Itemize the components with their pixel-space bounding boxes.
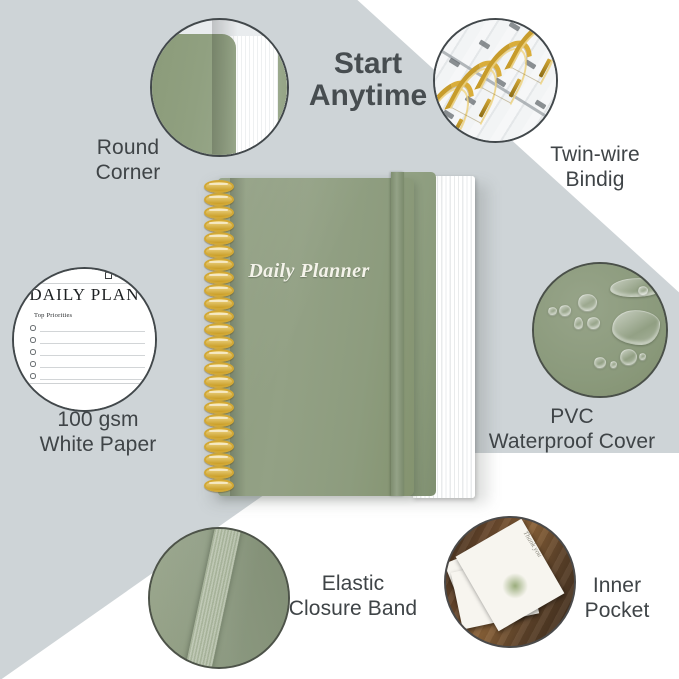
twin-wire-coil-icon xyxy=(433,18,558,143)
spiral-ring xyxy=(204,193,234,206)
water-drop xyxy=(620,349,637,365)
plan-footer-rule xyxy=(28,383,149,396)
plan-subtitle: Top Priorities xyxy=(34,312,72,319)
bullet-circle-icon xyxy=(30,337,36,343)
checkbox-icon xyxy=(105,272,112,279)
spiral-ring xyxy=(204,336,234,349)
spiral-ring xyxy=(204,232,234,245)
water-drop xyxy=(548,307,557,315)
punch-slot xyxy=(479,39,491,49)
spiral-ring xyxy=(204,310,234,323)
plan-option-delay: Delay xyxy=(132,272,155,279)
spiral-ring xyxy=(204,453,234,466)
plan-option-ok-label: Ok xyxy=(114,273,121,279)
feature-label-inner-pocket: Inner Pocket xyxy=(556,574,678,624)
spiral-ring xyxy=(204,180,234,193)
feature-label-elastic: Elastic Closure Band xyxy=(258,572,448,622)
plan-top-rule xyxy=(22,283,147,284)
water-drop xyxy=(594,357,606,368)
write-line xyxy=(40,379,145,380)
water-drop xyxy=(610,361,617,368)
headline-start-anytime: Start Anytime xyxy=(300,48,436,112)
spiral-ring xyxy=(204,375,234,388)
feature-label-round-corner: Round Corner xyxy=(58,136,198,186)
checkbox-icon xyxy=(132,272,139,279)
plan-todo-label: To Do List xyxy=(18,273,44,279)
plan-priority-row xyxy=(30,321,145,333)
leaf-motif-icon xyxy=(497,568,533,604)
plan-priority-row xyxy=(30,357,145,369)
spiral-ring xyxy=(204,388,234,401)
spiral-ring xyxy=(204,440,234,453)
spiral-ring xyxy=(204,323,234,336)
spiral-ring xyxy=(204,271,234,284)
plan-priority-row xyxy=(30,333,145,345)
water-drop xyxy=(559,305,571,316)
spiral-ring xyxy=(204,206,234,219)
write-line xyxy=(40,355,145,356)
plan-priority-row xyxy=(30,345,145,357)
water-blob xyxy=(612,310,660,345)
spiral-ring xyxy=(204,297,234,310)
bullet-circle-icon xyxy=(30,325,36,331)
water-drop xyxy=(638,286,648,295)
plan-priority-row xyxy=(30,369,145,381)
feature-label-pvc: PVC Waterproof Cover xyxy=(466,405,678,455)
plan-option-delay-label: Delay xyxy=(141,273,155,279)
cover-gloss xyxy=(218,178,414,496)
water-drop xyxy=(587,317,600,329)
feature-label-white-paper: 100 gsm White Paper xyxy=(8,408,188,458)
planner-spiral-binding xyxy=(200,172,236,502)
spiral-ring xyxy=(204,245,234,258)
spiral-ring xyxy=(204,362,234,375)
spiral-ring xyxy=(204,401,234,414)
write-line xyxy=(40,343,145,344)
daily-plan-page-icon: DAILY PLAN Top Priorities To Do List Ok … xyxy=(12,267,157,412)
punch-slot xyxy=(509,21,521,31)
water-droplets-icon xyxy=(532,262,668,398)
daily-plan-sheet: DAILY PLAN Top Priorities To Do List Ok … xyxy=(14,269,155,410)
spiral-ring xyxy=(204,284,234,297)
water-blob xyxy=(610,278,658,297)
water-drop xyxy=(639,353,646,360)
feature-label-twin-wire: Twin-wire Bindig xyxy=(515,143,675,193)
product-infographic: Daily Planner Start Anytime Round Corner… xyxy=(0,0,679,679)
spiral-ring xyxy=(204,349,234,362)
write-line xyxy=(40,331,145,332)
round-corner-shade xyxy=(212,20,238,155)
bullet-circle-icon xyxy=(30,349,36,355)
spiral-ring xyxy=(204,258,234,271)
bullet-circle-icon xyxy=(30,373,36,379)
spiral-ring xyxy=(204,427,234,440)
planner-product-image: Daily Planner xyxy=(200,172,490,502)
spiral-ring xyxy=(204,479,234,492)
planner-front-cover: Daily Planner xyxy=(218,178,414,496)
bullet-circle-icon xyxy=(30,361,36,367)
spiral-ring xyxy=(204,414,234,427)
plan-title: DAILY PLAN xyxy=(29,285,139,305)
planner-elastic-band xyxy=(391,172,404,496)
plan-priority-lines xyxy=(30,321,145,381)
write-line xyxy=(40,367,145,368)
plan-option-ok: Ok xyxy=(105,272,121,279)
plan-footer-row: To Do List Ok Delay xyxy=(18,272,155,279)
spiral-ring xyxy=(204,466,234,479)
spiral-ring xyxy=(204,219,234,232)
water-drop xyxy=(574,317,583,329)
water-drop xyxy=(578,294,597,311)
